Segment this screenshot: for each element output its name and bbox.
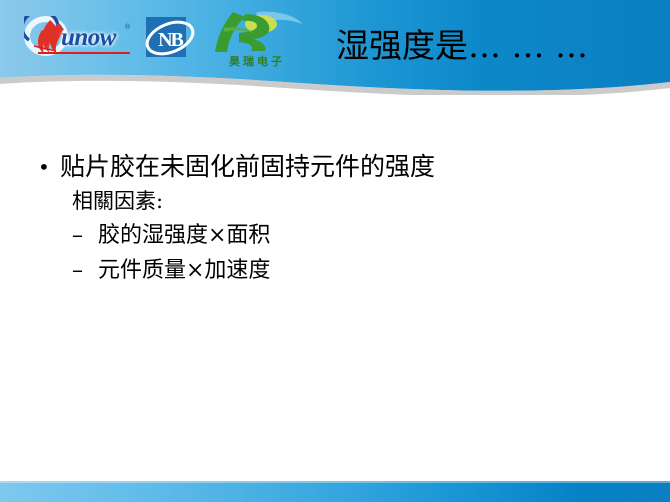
logo-sunow-underline: [38, 52, 130, 54]
logo-nb: NB: [142, 13, 198, 63]
logo-sunow-wordmark: unow: [61, 25, 116, 50]
logo-sunow: unow ®: [24, 16, 142, 60]
footer-highlight-line: [0, 481, 670, 483]
slide-canvas: unow ® NB: [0, 0, 670, 502]
bullet-level3-text-1: 胶的湿强度×面积: [98, 223, 270, 248]
header-banner: unow ® NB: [0, 0, 670, 95]
footer-bar: [0, 481, 670, 502]
bullet-marker-icon: •: [38, 150, 50, 184]
dash-marker-icon: –: [72, 220, 83, 251]
logo-haorui-chinese-name: 昊瑞电子: [212, 53, 302, 69]
logo-haorui: 昊瑞电子: [205, 8, 305, 72]
slide-body: • 贴片胶在未固化前固持元件的强度 相關因素: – 胶的湿强度×面积 – 元件质…: [30, 150, 640, 286]
bullet-level3-item-1: – 胶的湿强度×面积: [72, 220, 640, 251]
svg-text:NB: NB: [158, 29, 183, 51]
bullet-level2: 相關因素:: [72, 187, 640, 216]
slide-title: 湿强度是… … …: [336, 23, 670, 79]
bullet-level3-item-2: – 元件质量×加速度: [72, 255, 640, 286]
bullet-level1: • 贴片胶在未固化前固持元件的强度: [30, 150, 640, 184]
nb-square-ellipse-icon: NB: [142, 13, 198, 63]
dash-marker-icon: –: [72, 255, 83, 286]
bullet-level3-text-2: 元件质量×加速度: [98, 258, 270, 283]
logo-row: unow ® NB: [0, 0, 330, 80]
logo-sunow-registered: ®: [125, 24, 130, 31]
bullet-level1-text: 贴片胶在未固化前固持元件的强度: [60, 152, 435, 181]
green-leaf-swirl-icon: [205, 8, 305, 56]
